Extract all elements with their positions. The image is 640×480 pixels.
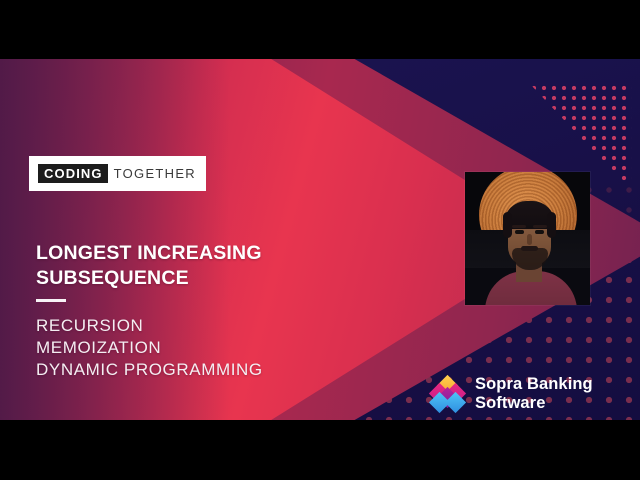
presenter-hair-left: [503, 212, 512, 238]
title-slide: CODING TOGETHER LONGEST INCREASING SUBSE…: [0, 59, 640, 420]
letterbox-bar-bottom: [0, 420, 640, 480]
title-underline-rule: [36, 299, 66, 302]
presenter-hair-right: [547, 212, 556, 238]
company-name: Sopra Banking Software: [475, 375, 593, 412]
coding-together-logo: CODING TOGETHER: [29, 156, 206, 191]
slide-title-line-1: LONGEST INCREASING: [36, 241, 366, 266]
letterbox-bar-top: [0, 0, 640, 59]
presenter-eye-right: [535, 230, 544, 234]
logo-word-coding: CODING: [38, 164, 108, 183]
company-name-line-1: Sopra Banking: [475, 375, 593, 394]
logo-word-together: TOGETHER: [108, 167, 196, 180]
sopra-banking-logo-icon: [430, 377, 464, 411]
presenter-eyebrow-right: [533, 225, 547, 228]
video-frame: CODING TOGETHER LONGEST INCREASING SUBSE…: [0, 0, 640, 480]
presenter-nose: [527, 234, 532, 245]
company-name-line-2: Software: [475, 394, 593, 413]
presenter-moustache: [521, 246, 538, 251]
slide-title-line-2: SUBSEQUENCE: [36, 266, 366, 291]
presenter-eye-left: [515, 230, 524, 234]
sopra-banking-software-lockup: Sopra Banking Software: [430, 375, 593, 412]
presenter-eyebrow-left: [512, 225, 526, 228]
topic-item-recursion: RECURSION: [36, 315, 263, 337]
slide-topic-list: RECURSION MEMOIZATION DYNAMIC PROGRAMMIN…: [36, 315, 263, 381]
presenter-webcam-tile: [465, 172, 590, 305]
slide-title: LONGEST INCREASING SUBSEQUENCE: [36, 241, 366, 302]
topic-item-dynamic-programming: DYNAMIC PROGRAMMING: [36, 359, 263, 381]
topic-item-memoization: MEMOIZATION: [36, 337, 263, 359]
